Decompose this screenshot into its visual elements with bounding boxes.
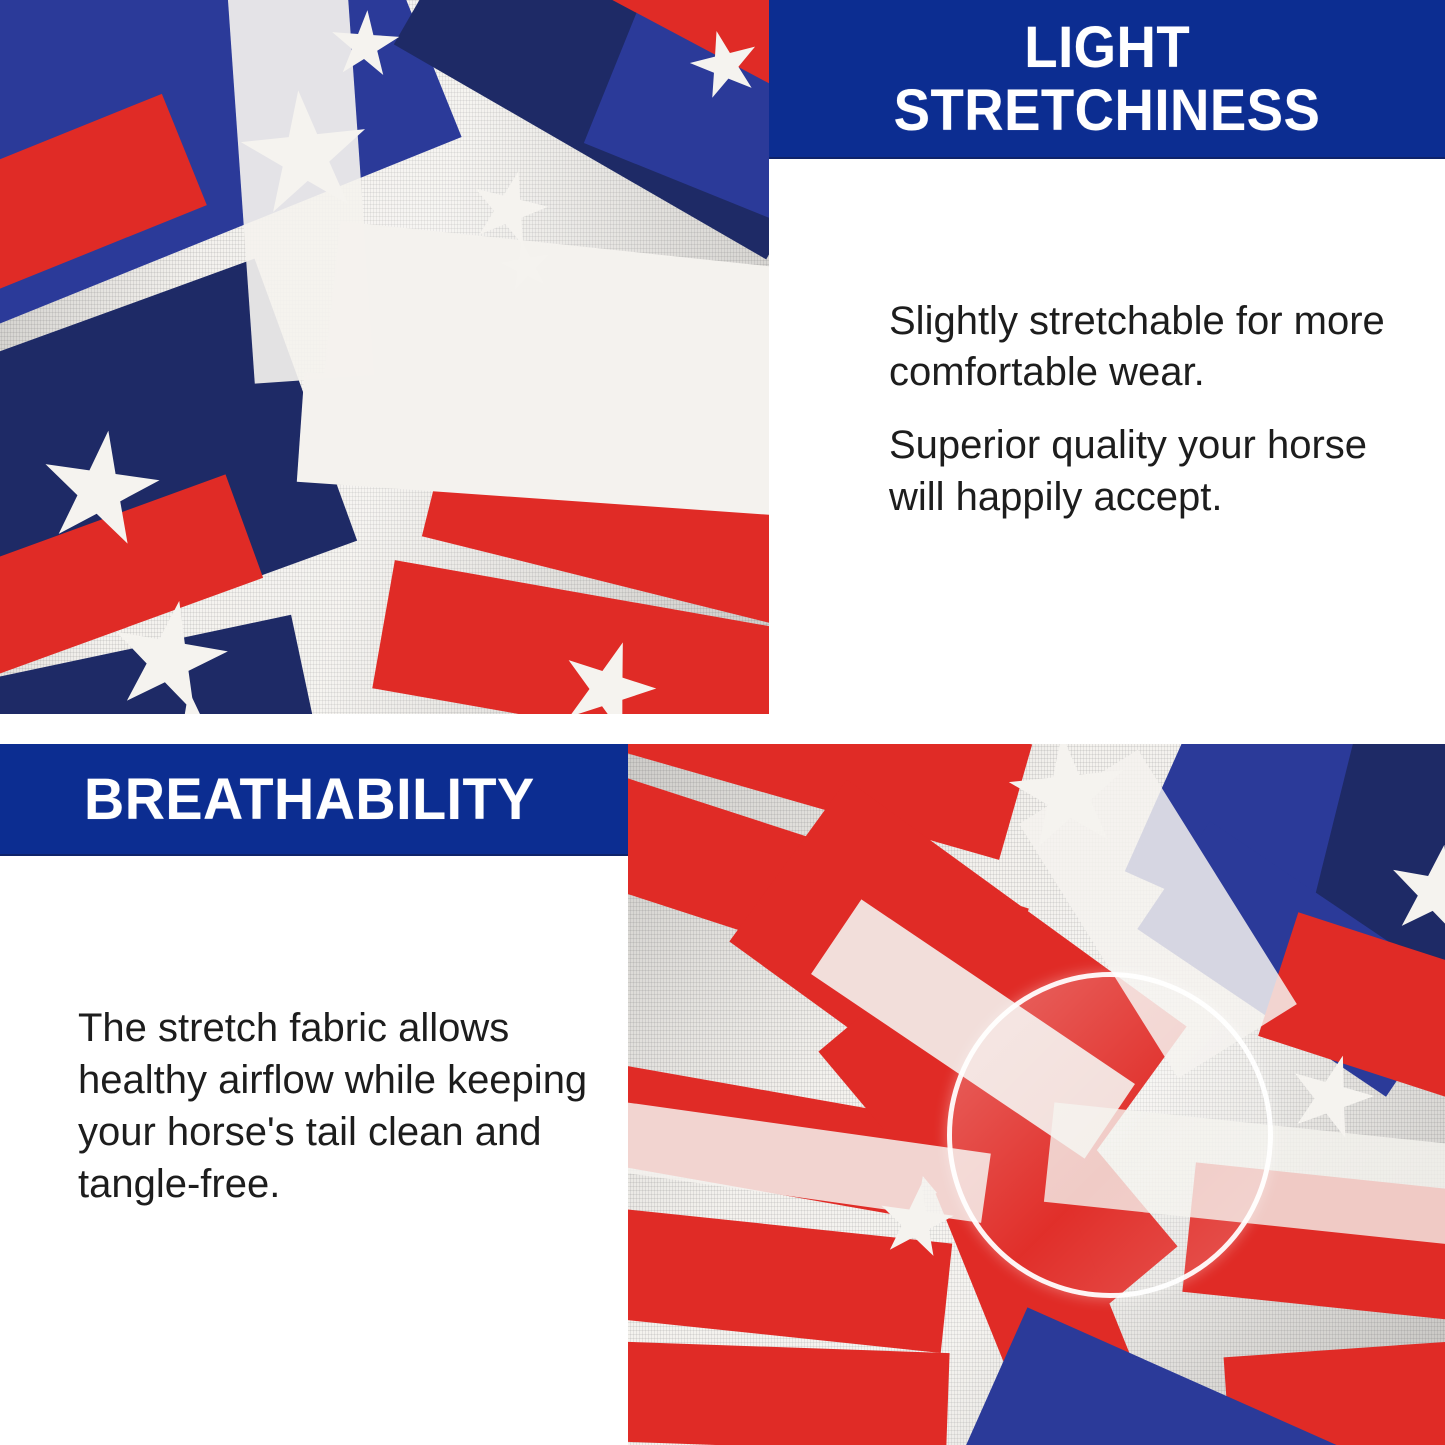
stretchiness-copy-block: Slightly stretchable for more comfortabl… xyxy=(889,296,1409,523)
breathability-paragraph-1: The stretch fabric allows healthy airflo… xyxy=(78,1002,606,1210)
banner-line-stretchiness: STRETCHINESS xyxy=(894,80,1321,142)
top-left-fabric-photo xyxy=(0,0,769,714)
flag-stripe-band xyxy=(628,1335,950,1445)
fabric-photo-canvas-2 xyxy=(628,744,1445,1445)
stretchiness-paragraph-1: Slightly stretchable for more comfortabl… xyxy=(889,296,1409,398)
light-stretchiness-banner: LIGHT STRETCHINESS xyxy=(769,0,1445,159)
bottom-right-fabric-photo xyxy=(628,744,1445,1445)
banner-line-light: LIGHT xyxy=(1024,17,1190,79)
banner-line-breathability: BREATHABILITY xyxy=(84,769,535,831)
breathability-copy-block: The stretch fabric allows healthy airflo… xyxy=(78,1002,606,1210)
breathability-banner: BREATHABILITY xyxy=(0,744,628,856)
top-right-text-panel: LIGHT STRETCHINESS Slightly stretchable … xyxy=(769,0,1445,714)
infographic-page: LIGHT STRETCHINESS Slightly stretchable … xyxy=(0,0,1445,1445)
fabric-photo-canvas xyxy=(0,0,769,714)
stretchiness-paragraph-2: Superior quality your horse will happily… xyxy=(889,420,1409,522)
